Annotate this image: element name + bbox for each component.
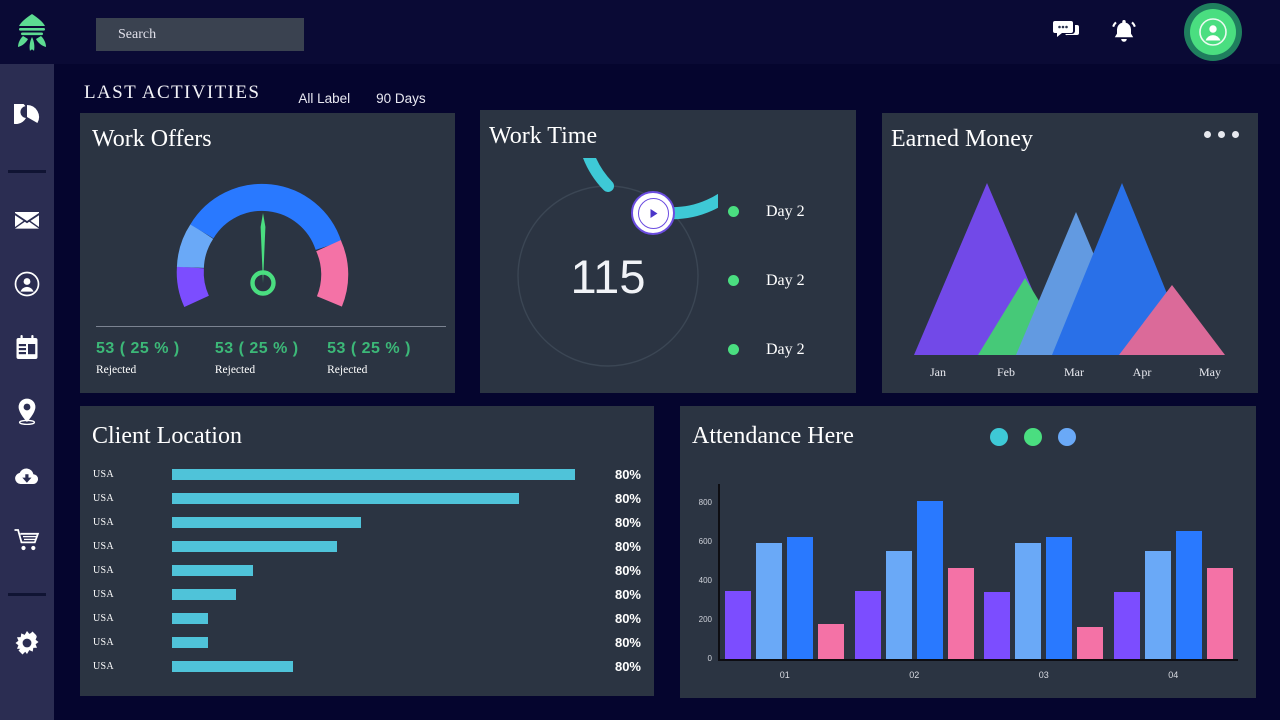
calendar-icon: [15, 335, 39, 365]
attendance-bar: [1145, 551, 1171, 659]
stat-label: Rejected: [215, 364, 327, 376]
legend-dot-icon: [728, 344, 739, 355]
more-horizontal-icon[interactable]: [1204, 131, 1239, 138]
row-bar-fill: [172, 589, 236, 600]
shopping-cart-icon: [13, 528, 41, 557]
row-bar-track: [172, 469, 575, 480]
row-label: USA: [93, 517, 172, 528]
row-bar-track: [172, 541, 575, 552]
row-label: USA: [93, 661, 172, 672]
sidebar-item-settings[interactable]: [7, 624, 47, 666]
pie-chart-icon: [14, 104, 40, 135]
client-location-list: USA80%USA80%USA80%USA80%USA80%USA80%USA8…: [93, 462, 641, 678]
row-label: USA: [93, 565, 172, 576]
work-time-legend: Day 2 Day 2 Day 2: [728, 177, 805, 384]
attendance-bar: [1176, 531, 1202, 659]
client-location-row: USA80%: [93, 486, 641, 510]
row-bar-fill: [172, 469, 575, 480]
x-label: Apr: [1108, 365, 1176, 380]
row-percent: 80%: [575, 515, 641, 530]
sidebar-item-cart[interactable]: [7, 521, 47, 563]
attendance-bars-area: [720, 484, 1238, 659]
messages-icon[interactable]: [1052, 17, 1082, 47]
attendance-bar: [886, 551, 912, 659]
row-percent: 80%: [575, 611, 641, 626]
attendance-bar: [917, 501, 943, 659]
card-title-work-time: Work Time: [489, 123, 597, 150]
earned-money-x-labels: Jan Feb Mar Apr May: [904, 365, 1244, 380]
row-percent: 80%: [575, 539, 641, 554]
work-offers-stats: 53 ( 25 % ) Rejected 53 ( 25 % ) Rejecte…: [96, 340, 446, 376]
row-percent: 80%: [575, 587, 641, 602]
row-bar-fill: [172, 565, 253, 576]
user-avatar[interactable]: [1184, 3, 1242, 61]
legend-item[interactable]: Day 2: [728, 315, 805, 384]
card-title-earned-money: Earned Money: [891, 126, 1033, 153]
attendance-bar: [984, 592, 1010, 659]
row-bar-fill: [172, 541, 337, 552]
stat-label: Rejected: [96, 364, 215, 376]
client-location-row: USA80%: [93, 606, 641, 630]
legend-dot-blue[interactable]: [1058, 428, 1076, 446]
client-location-row: USA80%: [93, 558, 641, 582]
attendance-bar: [787, 537, 813, 659]
top-bar-actions: [1052, 0, 1242, 64]
attendance-bar: [1207, 568, 1233, 659]
stat-item: 53 ( 25 % ) Rejected: [215, 340, 327, 376]
attendance-legend: [990, 428, 1076, 446]
row-bar-track: [172, 637, 575, 648]
row-label: USA: [93, 637, 172, 648]
sidebar-item-profile[interactable]: [7, 265, 47, 307]
map-pin-icon: [16, 398, 38, 430]
row-bar-track: [172, 613, 575, 624]
earned-money-mountain-chart: [904, 165, 1244, 360]
work-time-play-handle[interactable]: [631, 191, 675, 235]
stat-item: 53 ( 25 % ) Rejected: [327, 340, 446, 376]
client-location-row: USA80%: [93, 510, 641, 534]
row-bar-fill: [172, 661, 293, 672]
attendance-bar: [1114, 592, 1140, 659]
legend-item[interactable]: Day 2: [728, 177, 805, 246]
attendance-bar-chart: 0200400600800 01020304: [692, 484, 1244, 684]
card-work-offers: Work Offers 53 ( 25 % ) Rejected 53 ( 25…: [80, 113, 455, 393]
y-axis-tick: 800: [692, 498, 712, 507]
dashboard-root: LAST ACTIVITIES All Label 90 Days Work O…: [0, 0, 1280, 720]
sidebar-item-dashboard[interactable]: [7, 98, 47, 140]
cloud-download-icon: [13, 466, 41, 491]
play-icon: [638, 198, 669, 229]
y-axis-tick: 400: [692, 576, 712, 585]
legend-dot-green[interactable]: [1024, 428, 1042, 446]
row-bar-track: [172, 565, 575, 576]
sidebar: [0, 64, 54, 720]
client-location-row: USA80%: [93, 462, 641, 486]
card-earned-money: Earned Money Jan Feb Mar Apr May: [882, 113, 1258, 393]
top-bar: [0, 0, 1280, 64]
row-label: USA: [93, 589, 172, 600]
row-bar-track: [172, 661, 575, 672]
row-percent: 80%: [575, 563, 641, 578]
stat-value: 53 ( 25 % ): [215, 340, 327, 358]
card-work-time: Work Time 115 Day 2 Day 2 Day 2: [480, 110, 856, 393]
stat-value: 53 ( 25 % ): [96, 340, 215, 358]
sidebar-item-location[interactable]: [7, 393, 47, 435]
row-bar-fill: [172, 517, 361, 528]
row-label: USA: [93, 493, 172, 504]
sidebar-item-mail[interactable]: [7, 201, 47, 243]
work-offers-gauge: [163, 165, 363, 325]
row-label: USA: [93, 613, 172, 624]
legend-dot-icon: [728, 275, 739, 286]
card-title-attendance: Attendance Here: [692, 423, 854, 450]
attendance-bar: [818, 624, 844, 659]
x-axis-tick: 04: [1153, 670, 1193, 680]
y-axis-tick: 200: [692, 615, 712, 624]
legend-dot-icon: [728, 206, 739, 217]
sidebar-item-calendar[interactable]: [7, 329, 47, 371]
client-location-row: USA80%: [93, 630, 641, 654]
legend-label: Day 2: [766, 341, 805, 359]
x-axis-tick: 03: [1024, 670, 1064, 680]
attendance-bar: [1046, 537, 1072, 659]
gear-icon: [12, 628, 42, 663]
attendance-bar: [756, 543, 782, 659]
card-title-client-location: Client Location: [92, 423, 242, 450]
legend-item[interactable]: Day 2: [728, 246, 805, 315]
filter-90-days[interactable]: 90 Days: [376, 91, 426, 106]
client-location-row: USA80%: [93, 654, 641, 678]
x-label: Feb: [972, 365, 1040, 380]
sidebar-item-downloads[interactable]: [7, 457, 47, 499]
y-axis-tick: 0: [692, 654, 712, 663]
attendance-bar: [948, 568, 974, 659]
leaf-logo[interactable]: [10, 8, 54, 54]
x-label: Mar: [1040, 365, 1108, 380]
row-percent: 80%: [575, 491, 641, 506]
x-label: Jan: [904, 365, 972, 380]
row-bar-track: [172, 517, 575, 528]
x-axis-tick: 01: [765, 670, 805, 680]
row-percent: 80%: [575, 659, 641, 674]
attendance-bar: [1077, 627, 1103, 659]
page-heading: LAST ACTIVITIES All Label 90 Days: [84, 82, 426, 104]
filter-all-label[interactable]: All Label: [298, 91, 350, 106]
legend-dot-cyan[interactable]: [990, 428, 1008, 446]
sidebar-divider-1: [8, 170, 46, 173]
card-client-location: Client Location USA80%USA80%USA80%USA80%…: [80, 406, 654, 696]
row-bar-fill: [172, 493, 519, 504]
avatar-inner: [1190, 9, 1236, 55]
stat-item: 53 ( 25 % ) Rejected: [96, 340, 215, 376]
row-label: USA: [93, 469, 172, 480]
row-bar-fill: [172, 613, 208, 624]
stat-label: Rejected: [327, 364, 446, 376]
work-time-ring: 115: [498, 158, 718, 388]
card-title-work-offers: Work Offers: [92, 126, 212, 153]
page-title: LAST ACTIVITIES: [84, 82, 260, 104]
x-axis-line: [718, 659, 1238, 661]
user-circle-icon: [14, 271, 40, 302]
gauge-divider: [96, 326, 446, 327]
x-label: May: [1176, 365, 1244, 380]
row-bar-fill: [172, 637, 208, 648]
legend-label: Day 2: [766, 272, 805, 290]
row-bar-track: [172, 589, 575, 600]
attendance-bar: [855, 591, 881, 659]
row-percent: 80%: [575, 467, 641, 482]
client-location-row: USA80%: [93, 582, 641, 606]
search-input[interactable]: [96, 18, 304, 51]
row-percent: 80%: [575, 635, 641, 650]
attendance-bar: [725, 591, 751, 659]
row-label: USA: [93, 541, 172, 552]
notifications-icon[interactable]: [1109, 17, 1139, 47]
work-time-value: 115: [571, 250, 646, 303]
row-bar-track: [172, 493, 575, 504]
card-attendance: Attendance Here 0200400600800 01020304: [680, 406, 1256, 698]
client-location-row: USA80%: [93, 534, 641, 558]
legend-label: Day 2: [766, 203, 805, 221]
y-axis-tick: 600: [692, 537, 712, 546]
attendance-bar: [1015, 543, 1041, 659]
sidebar-divider-2: [8, 593, 46, 596]
stat-value: 53 ( 25 % ): [327, 340, 446, 358]
envelope-icon: [14, 210, 40, 235]
x-axis-tick: 02: [894, 670, 934, 680]
